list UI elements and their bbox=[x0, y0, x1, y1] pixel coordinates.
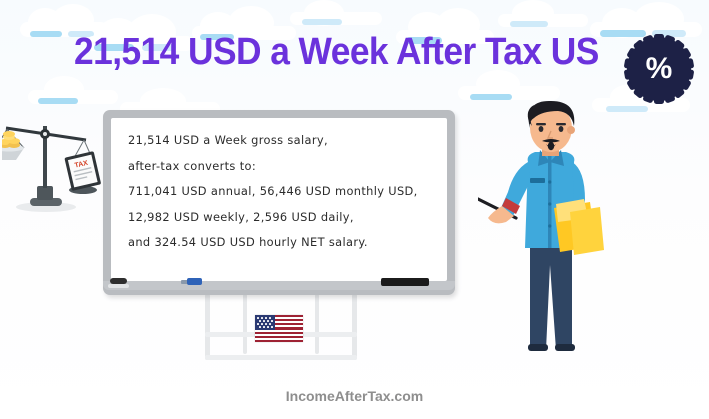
blue-marker-icon bbox=[187, 278, 202, 285]
site-footer: IncomeAfterTax.com bbox=[0, 388, 709, 404]
poster-canvas: 21,514 USD a Week After Tax US % bbox=[0, 0, 709, 419]
balance-scale-illustration: TAX bbox=[2, 112, 106, 216]
balance-scale-svg: TAX bbox=[2, 112, 106, 216]
black-marker-icon bbox=[381, 278, 429, 286]
eraser-icon bbox=[110, 278, 127, 284]
whiteboard-surface: 21,514 USD a Week gross salary, after-ta… bbox=[111, 118, 447, 281]
stand-leg-inner-left bbox=[243, 294, 247, 354]
percent-badge-icon: % bbox=[623, 33, 695, 105]
whiteboard-line: 21,514 USD a Week gross salary, bbox=[128, 128, 438, 154]
cloud-accent bbox=[302, 19, 342, 25]
badge-percent-symbol: % bbox=[623, 33, 695, 105]
whiteboard-text: 21,514 USD a Week gross salary, after-ta… bbox=[128, 128, 438, 256]
cloud-decoration bbox=[28, 76, 124, 108]
whiteboard-line: 711,041 USD annual, 56,446 USD monthly U… bbox=[128, 179, 438, 205]
presenter-illustration bbox=[478, 100, 648, 360]
whiteboard-tray bbox=[103, 281, 455, 290]
us-flag bbox=[255, 315, 303, 342]
presenter-svg bbox=[478, 100, 648, 360]
stand-leg-left bbox=[205, 294, 210, 360]
page-title: 21,514 USD a Week After Tax US bbox=[74, 26, 595, 78]
cloud-accent bbox=[38, 98, 78, 104]
cloud-accent bbox=[30, 31, 62, 37]
whiteboard-line: after-tax converts to: bbox=[128, 154, 438, 180]
whiteboard: 21,514 USD a Week gross salary, after-ta… bbox=[103, 110, 455, 295]
eraser-base bbox=[108, 284, 129, 288]
whiteboard-line: and 324.54 USD USD hourly NET salary. bbox=[128, 230, 438, 256]
stand-leg-inner-right bbox=[315, 294, 319, 354]
whiteboard-line: 12,982 USD weekly, 2,596 USD daily, bbox=[128, 205, 438, 231]
stand-leg-right bbox=[352, 294, 357, 360]
stand-footbar bbox=[205, 355, 357, 360]
